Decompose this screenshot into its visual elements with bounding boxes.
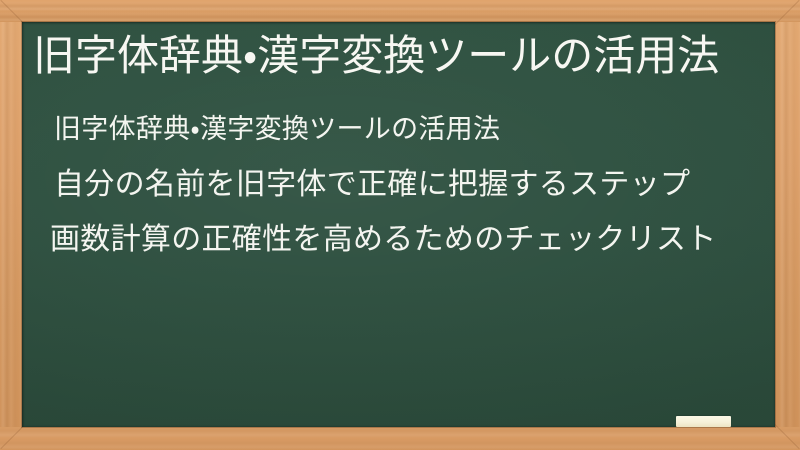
body-line-2: 自分の名前を旧字体で正確に把握するステップ bbox=[54, 157, 769, 212]
chalk-stick bbox=[676, 416, 731, 427]
chalkboard-surface: 旧字体辞典・漢字変換ツールの活用法 旧字体辞典・漢字変換ツールの活用法 自分の名… bbox=[22, 22, 775, 427]
frame-rail-top bbox=[0, 0, 800, 22]
body-line-1: 旧字体辞典・漢字変換ツールの活用法 bbox=[54, 102, 769, 157]
blackboard-slide: 旧字体辞典・漢字変換ツールの活用法 旧字体辞典・漢字変換ツールの活用法 自分の名… bbox=[0, 0, 800, 450]
slide-title: 旧字体辞典・漢字変換ツールの活用法 bbox=[33, 27, 763, 85]
slide-body-list: 旧字体辞典・漢字変換ツールの活用法 自分の名前を旧字体で正確に把握するステップ … bbox=[54, 102, 769, 267]
body-line-3: 画数計算の正確性を高めるためのチェックリスト bbox=[50, 212, 769, 267]
frame-rail-bottom bbox=[0, 427, 800, 450]
